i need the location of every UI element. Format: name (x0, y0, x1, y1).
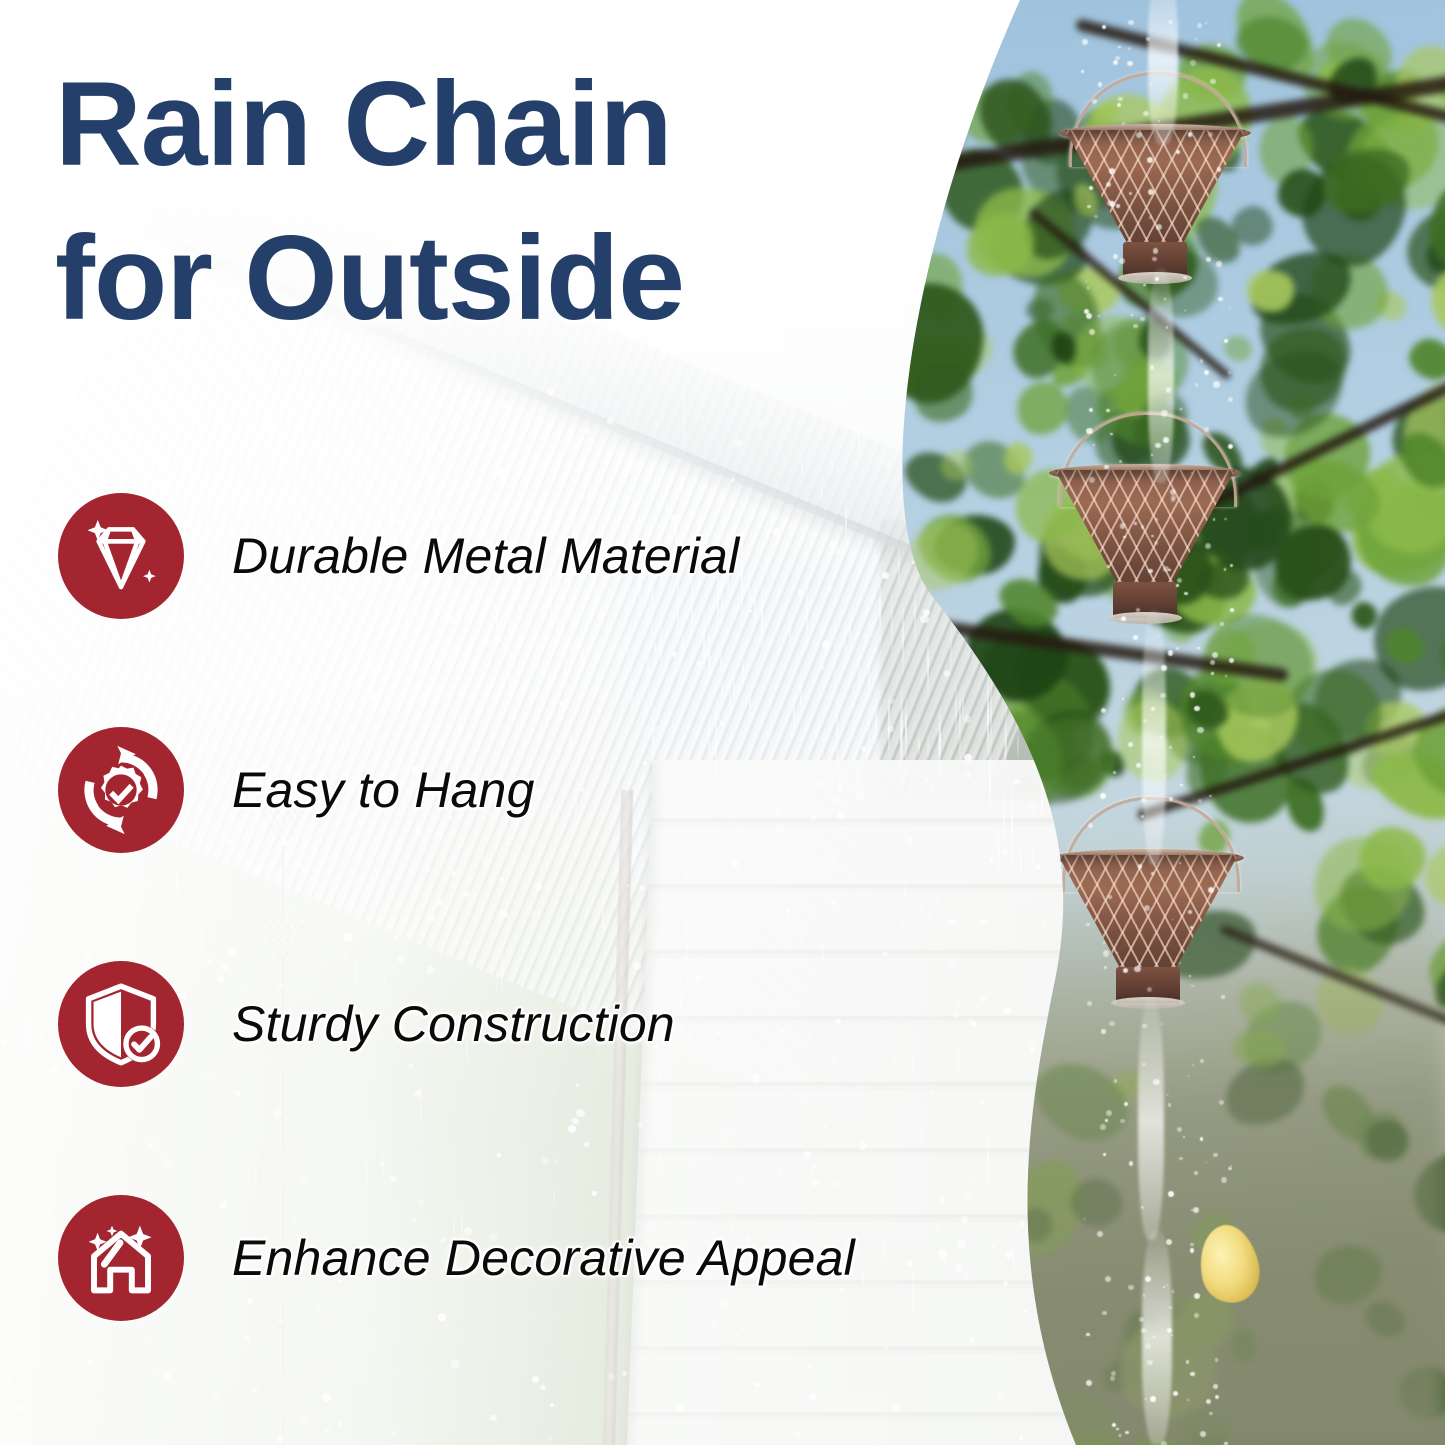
water-stream (1148, 268, 1174, 483)
shield-check-icon (58, 961, 184, 1087)
feature-item-enhance-decorative-appeal: Enhance Decorative Appeal (58, 1194, 1018, 1322)
water-stream (1148, 0, 1178, 145)
page-title: Rain Chain for Outside (55, 48, 855, 355)
feature-label: Durable Metal Material (232, 527, 739, 585)
water-stream (1138, 1000, 1164, 1240)
gear-refresh-check-icon (58, 727, 184, 853)
rain-chain-cup (1058, 855, 1238, 1005)
sparkle-house-icon (58, 1195, 184, 1321)
feature-item-durable-metal-material: Durable Metal Material (58, 492, 1018, 620)
product-infographic: Rain Chain for Outside Durable Metal Mat… (0, 0, 1445, 1445)
feature-label: Sturdy Construction (232, 995, 675, 1053)
feature-label: Easy to Hang (232, 761, 535, 819)
feature-item-easy-to-hang: Easy to Hang (58, 726, 1018, 854)
diamond-gem-icon (58, 493, 184, 619)
feature-list: Durable Metal Material Easy (58, 492, 1018, 1428)
feature-label: Enhance Decorative Appeal (232, 1229, 855, 1287)
water-stream (1142, 1230, 1172, 1445)
feature-item-sturdy-construction: Sturdy Construction (58, 960, 1018, 1088)
